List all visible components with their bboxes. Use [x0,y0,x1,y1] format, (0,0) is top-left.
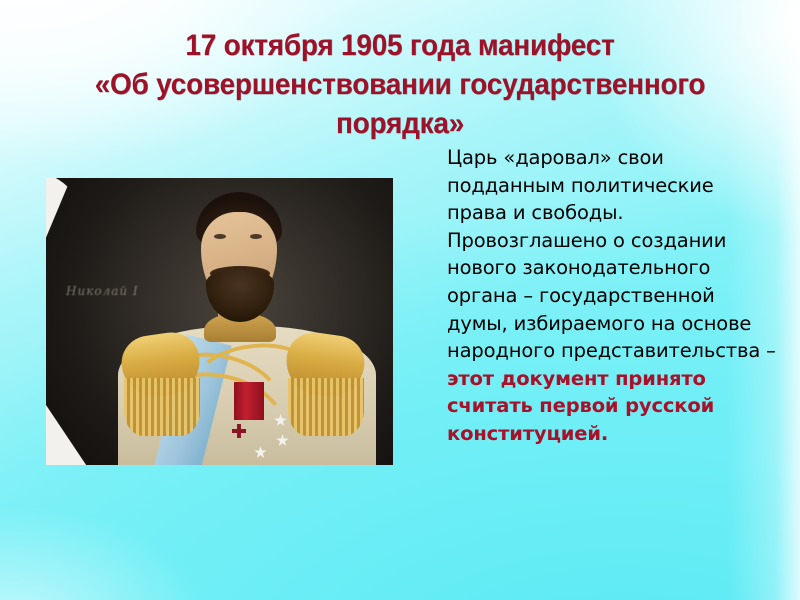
body-text-block: Царь «даровал» свои подданным политическ… [447,144,777,448]
portrait-caption-inscription: Николай I [66,284,139,298]
portrait-epaulette-fringe-right [288,378,364,436]
portrait-eye-left [214,234,226,239]
portrait-epaulette-fringe-left [124,378,200,436]
portrait-eye-right [250,234,262,239]
slide-title: 17 октября 1905 года манифест «Об усовер… [45,26,756,143]
body-paragraph: Царь «даровал» свои подданным политическ… [447,146,776,362]
body-emphasis: этот документ принято считать первой рус… [447,367,714,445]
slide-canvas: 17 октября 1905 года манифест «Об усовер… [0,0,800,600]
portrait-image: Николай I [46,178,393,465]
portrait-medal-ribbon [234,382,264,420]
